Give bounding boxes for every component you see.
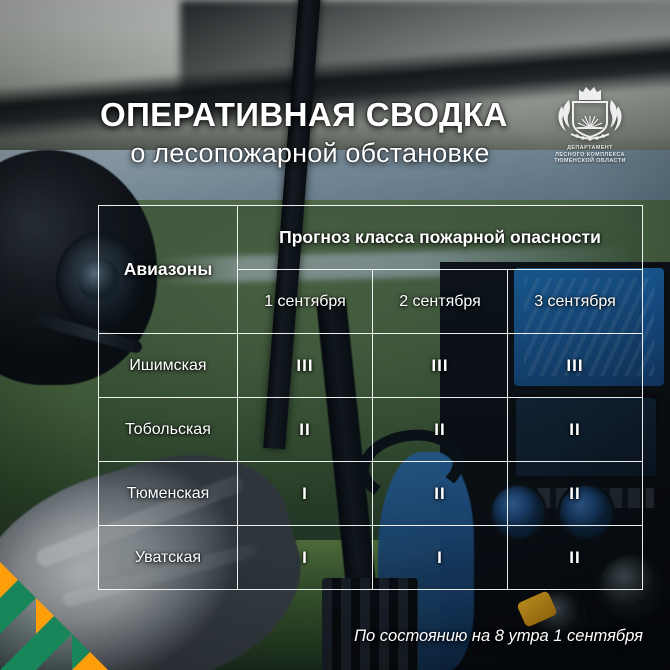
coat-of-arms-icon	[549, 82, 631, 144]
fire-class-day-2: I	[373, 526, 508, 590]
corner-triangle-mosaic	[0, 552, 118, 670]
zone-name: Ишимская	[99, 334, 238, 398]
header-zones: Авиазоны	[99, 206, 238, 334]
emblem-caption-line-3: ТЮМЕНСКОЙ ОБЛАСТИ	[532, 158, 648, 165]
fire-class-day-3: III	[508, 334, 643, 398]
poster-canvas: ОПЕРАТИВНАЯ СВОДКА о лесопожарной обстан…	[0, 0, 670, 670]
fire-class-day-1: I	[238, 462, 373, 526]
fire-class-day-2: III	[373, 334, 508, 398]
fire-class-day-1: III	[238, 334, 373, 398]
table-row: Ишимская III III III	[99, 334, 643, 398]
triangle-mosaic-icon	[0, 552, 118, 670]
zone-name: Уватская	[99, 526, 238, 590]
emblem-caption: ДЕПАРТАМЕНТ ЛЕСНОГО КОМПЛЕКСА ТЮМЕНСКОЙ …	[532, 145, 648, 165]
fire-class-day-2: II	[373, 462, 508, 526]
table-row: Тюменская I II II	[99, 462, 643, 526]
header-forecast: Прогноз класса пожарной опасности	[238, 206, 643, 270]
table-row: Тобольская II II II	[99, 398, 643, 462]
header-date-3: 3 сентября	[508, 270, 643, 334]
zone-name: Тюменская	[99, 462, 238, 526]
organization-emblem: ДЕПАРТАМЕНТ ЛЕСНОГО КОМПЛЕКСА ТЮМЕНСКОЙ …	[532, 82, 648, 180]
header-date-1: 1 сентября	[238, 270, 373, 334]
table-row: Уватская I I II	[99, 526, 643, 590]
fire-class-day-1: I	[238, 526, 373, 590]
page-title: ОПЕРАТИВНАЯ СВОДКА	[100, 96, 520, 134]
zone-name: Тобольская	[99, 398, 238, 462]
fire-class-day-1: II	[238, 398, 373, 462]
page-subtitle: о лесопожарной обстановке	[100, 138, 520, 169]
fire-class-day-3: II	[508, 526, 643, 590]
bg-throttle-levers	[322, 578, 418, 670]
fire-class-day-3: II	[508, 398, 643, 462]
emblem-caption-line-1: ДЕПАРТАМЕНТ	[532, 145, 648, 152]
fire-danger-forecast-table: Авиазоны Прогноз класса пожарной опаснос…	[98, 205, 643, 590]
fire-class-day-2: II	[373, 398, 508, 462]
fire-class-day-3: II	[508, 462, 643, 526]
table-header-row-top: Авиазоны Прогноз класса пожарной опаснос…	[99, 206, 643, 270]
status-timestamp-note: По состоянию на 8 утра 1 сентября	[354, 627, 643, 646]
header-date-2: 2 сентября	[373, 270, 508, 334]
